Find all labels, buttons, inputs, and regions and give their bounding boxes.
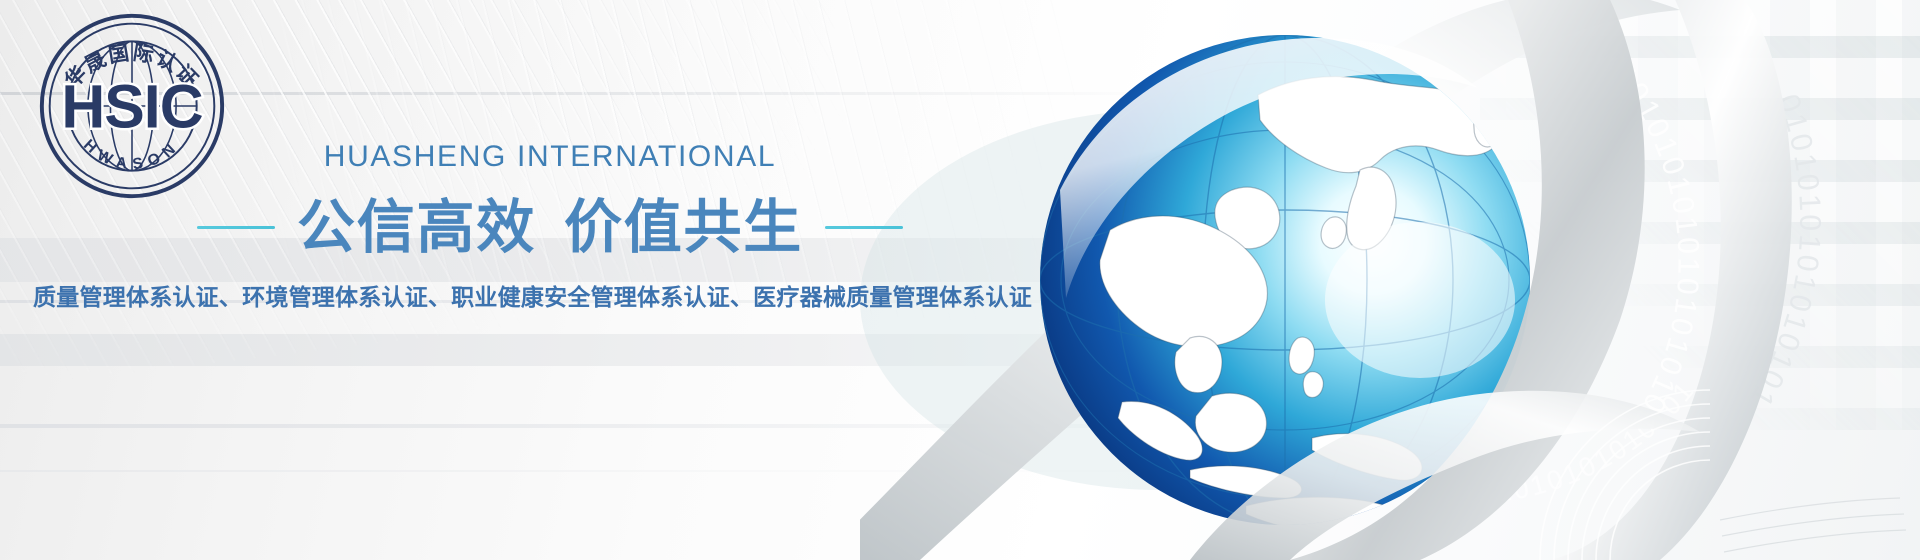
rule-left-decoration [197, 226, 275, 229]
rule-right-decoration [825, 226, 903, 229]
headline-row: 公信高效价值共生 [0, 196, 1100, 260]
binary-arc-text: 01010101010101010101 [1595, 43, 1705, 439]
background-stripe [0, 470, 1920, 472]
svg-text:01010101010101010101: 01010101010101010101 [1595, 43, 1705, 439]
logo-monogram: HSIC [61, 73, 202, 141]
eyebrow-text: HUASHENG INTERNATIONAL [0, 140, 1100, 174]
binary-arc-text: 0101010101010101 [1443, 374, 1701, 509]
background-stripe [0, 92, 1920, 95]
background-stripe [0, 334, 1920, 366]
headline-right: 价值共生 [564, 195, 803, 260]
svg-text:0101010101010101: 0101010101010101 [1742, 90, 1826, 414]
binary-arc-text: 0101010101010101 [1742, 90, 1826, 414]
hero-banner: 01010101010101010101 0101010101010101 01… [0, 0, 1920, 560]
headline-left: 公信高效 [297, 195, 536, 260]
background-stripe [0, 424, 1920, 428]
tech-grid-pattern [1480, 0, 1920, 430]
subtitle-text: 质量管理体系认证、环境管理体系认证、职业健康安全管理体系认证、医疗器械质量管理体… [0, 278, 1065, 312]
page-title: 公信高效价值共生 [297, 196, 803, 260]
svg-text:0101010101010101: 0101010101010101 [1443, 374, 1701, 509]
hsic-logo[interactable]: 华晟国际认证 HWASON HSIC [34, 8, 230, 204]
